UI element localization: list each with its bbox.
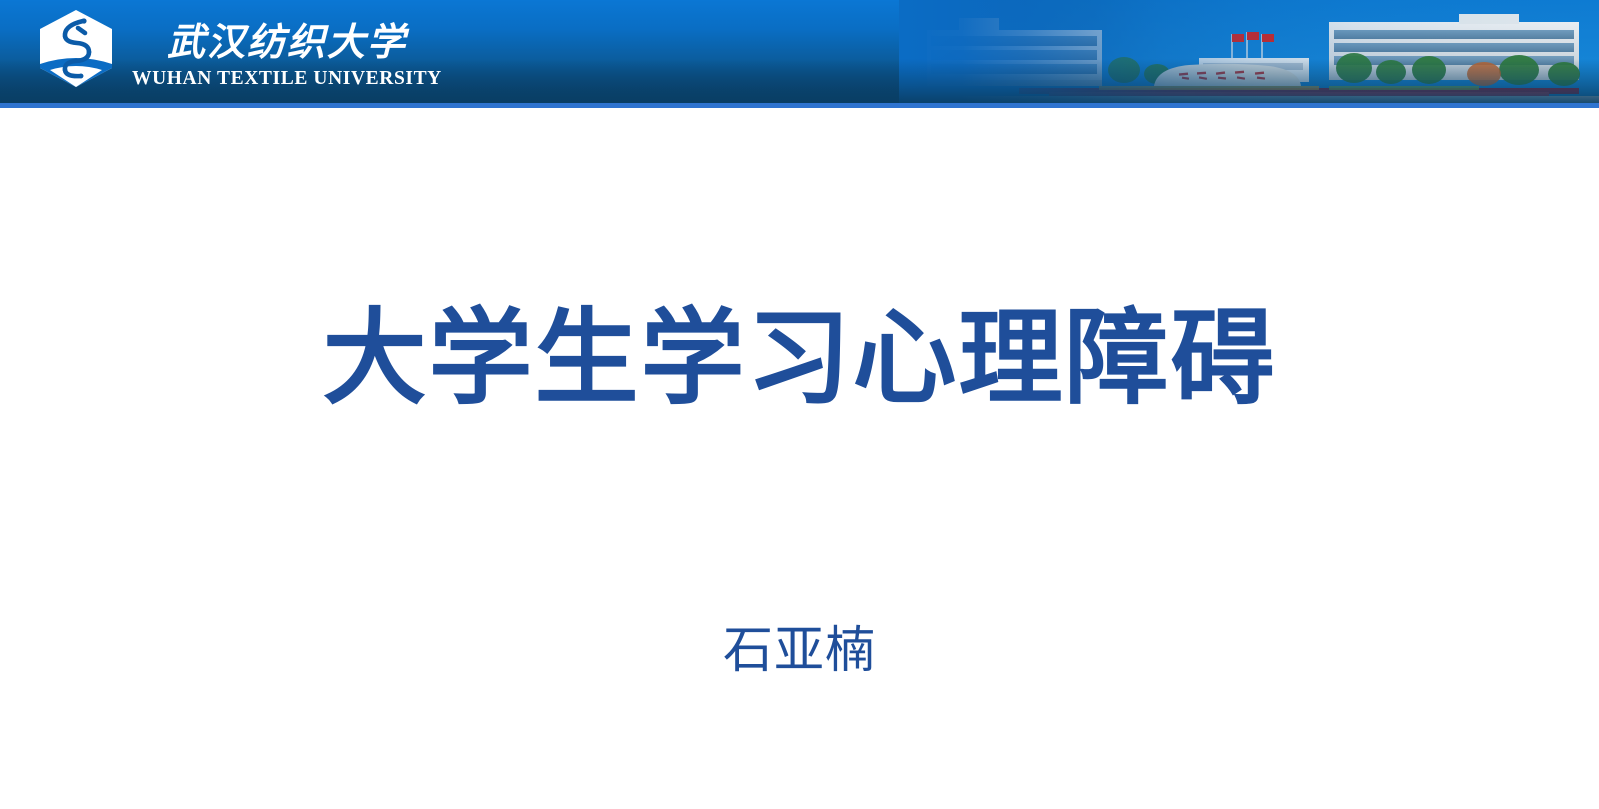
university-logo-block: 武汉纺织大学 WUHAN TEXTILE UNIVERSITY <box>34 6 442 98</box>
university-english-name: WUHAN TEXTILE UNIVERSITY <box>132 69 442 89</box>
svg-text:武汉纺织大学: 武汉纺织大学 <box>167 21 410 64</box>
slide-author: 石亚楠 <box>0 618 1599 683</box>
slide-title: 大学生学习心理障碍 <box>0 298 1599 421</box>
university-wordmark: 武汉纺织大学 WUHAN TEXTILE UNIVERSITY <box>132 18 442 89</box>
university-chinese-name-calligraphy: 武汉纺织大学 <box>153 18 421 66</box>
banner-underline <box>0 103 1599 108</box>
slide-header-banner: 武汉纺织大学 WUHAN TEXTILE UNIVERSITY <box>0 0 1599 103</box>
campus-entrance-photo <box>899 0 1599 103</box>
wuhan-textile-university-hexagon-logo <box>34 8 118 96</box>
presentation-slide: 武汉纺织大学 WUHAN TEXTILE UNIVERSITY 大学生学习心理障… <box>0 0 1599 809</box>
